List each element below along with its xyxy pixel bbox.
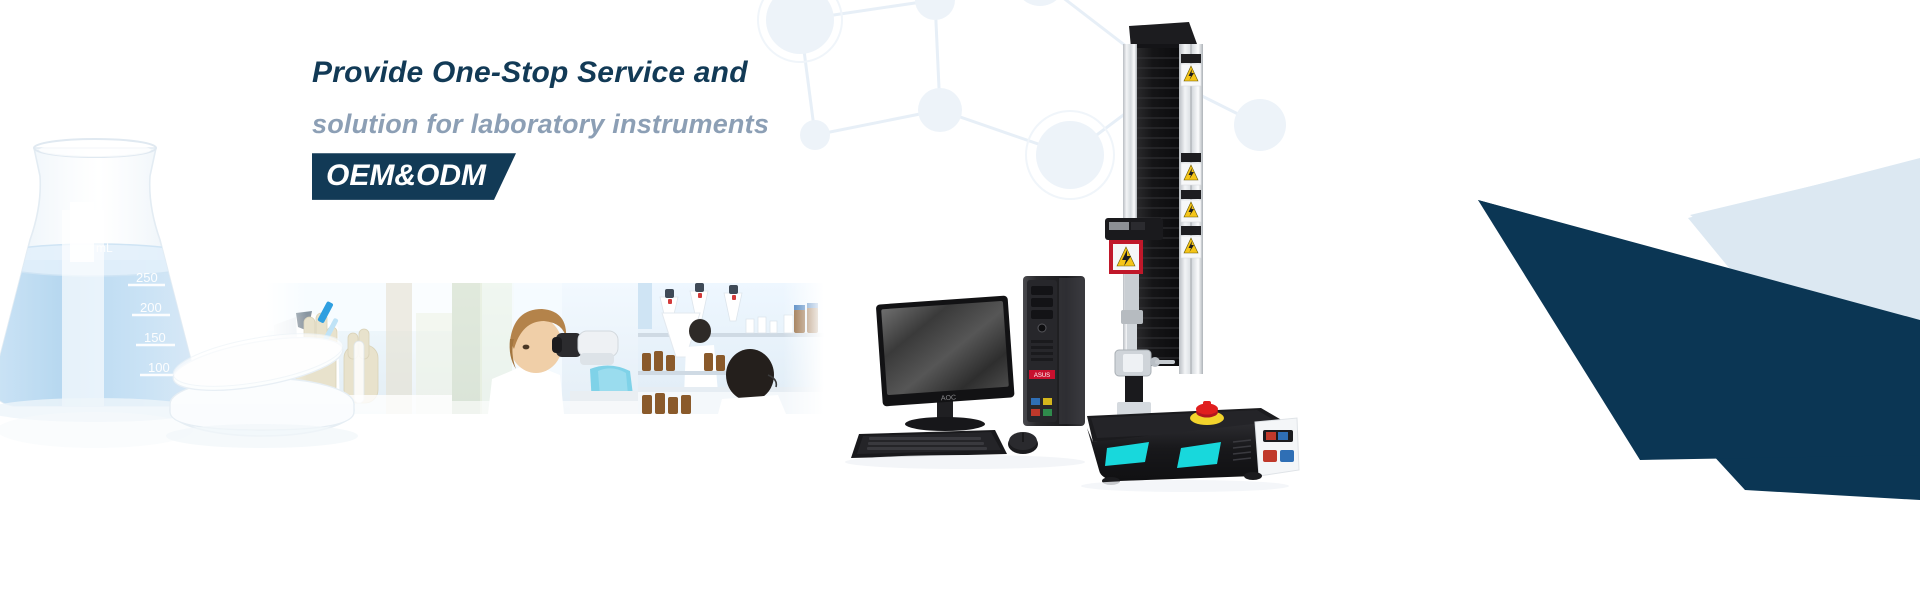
headline-line-1: Provide One-Stop Service and [312, 54, 1012, 92]
arrow-light-shape-2 [1688, 158, 1920, 340]
pc-tower: ASUS [1023, 276, 1085, 426]
machine-warning-labels [1181, 54, 1201, 258]
machine-control-panel [1255, 418, 1299, 476]
universal-testing-machine [1085, 18, 1305, 488]
tower-brand-mark: ASUS [1034, 373, 1050, 379]
flask-grad-200: 200 [140, 300, 162, 315]
flask-grad-250: 250 [136, 270, 158, 285]
lcd-monitor: AOC [876, 296, 1015, 431]
mouse [1008, 432, 1038, 454]
flask-grad-150: 150 [144, 330, 166, 345]
arrow-dark-shape [1478, 200, 1920, 500]
photo-lab-bench [638, 283, 824, 414]
petri-dish [166, 323, 358, 448]
monitor-brand-mark: AOC [941, 394, 957, 402]
computer-workstation: AOC [845, 270, 1125, 470]
promo-banner: Provide One-Stop Service and solution fo… [0, 0, 1920, 597]
arrow-light-shape [1690, 160, 1920, 330]
photo-microscope [452, 283, 638, 414]
flask-unit-label: mL [96, 241, 113, 255]
arrow-dark-shape-2 [1478, 200, 1920, 460]
headline-line-2: solution for laboratory instruments [312, 108, 1012, 142]
headline-block: Provide One-Stop Service and solution fo… [312, 54, 1012, 200]
flask-grad-100: 100 [148, 360, 170, 375]
keyboard [851, 430, 1007, 458]
erlenmeyer-flask: 250 200 150 100 mL [0, 110, 400, 490]
